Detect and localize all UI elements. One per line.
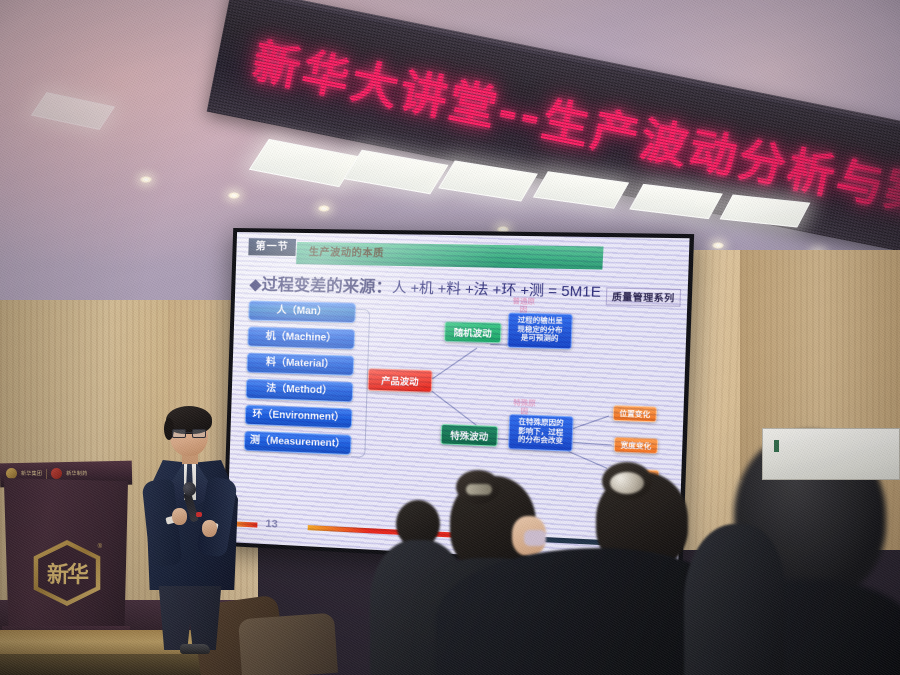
- slide-series-badge: 质量管理系列: [606, 287, 681, 306]
- connector-root-to-special: [431, 391, 476, 426]
- ceiling-downlight: [712, 242, 724, 249]
- slide-heading-text: 过程变差的来源：: [261, 277, 392, 297]
- podium-logo-character: 新华: [30, 540, 104, 606]
- podium-hexagon-logo: 新华 ®: [30, 540, 104, 606]
- effect-box-width-change: 宽度变化: [614, 437, 658, 454]
- factor-box-man: 人（Man）: [248, 300, 356, 323]
- factor-box-measurement: 测（Measurement）: [244, 431, 352, 455]
- brand-divider: [46, 469, 47, 479]
- pearl-hair-ornament-icon: [610, 472, 644, 494]
- speaker-trousers: [156, 586, 224, 650]
- xinhua-group-logo-icon: [6, 468, 17, 479]
- ceiling-downlight: [228, 192, 240, 199]
- process-box-special-variation: 特殊波动: [440, 424, 498, 447]
- face-mask-icon: [524, 530, 546, 546]
- speaker: [128, 404, 250, 649]
- whiteboard-marker-icon: [774, 440, 779, 452]
- slide-page-number: 13: [265, 518, 278, 531]
- chair-back: [238, 613, 338, 675]
- speaker-hand-right: [202, 520, 217, 537]
- slide-header: 第一节 生产波动的本质: [236, 238, 689, 272]
- effect-box-position-change: 位置变化: [613, 405, 657, 422]
- explain-box-stable-distribution: 过程的输出呈 现稳定的分布 是可预测的: [507, 312, 573, 349]
- process-box-random-variation: 随机波动: [444, 321, 502, 343]
- ceiling-downlight: [318, 205, 330, 212]
- process-box-product-variation: 产品波动: [367, 368, 432, 393]
- glasses-lens-left: [172, 429, 186, 438]
- explain-line: 的分布会改变: [518, 436, 563, 447]
- podium-brand-primary: 新华集团: [21, 470, 42, 477]
- slide-heading: ◆过程变差的来源：人 +机 +料 +法 +环 +测 = 5M1E: [249, 270, 601, 302]
- xinhua-pharma-logo-icon: [51, 468, 62, 479]
- slide-section-tag: 第一节: [248, 238, 296, 256]
- audience-member: [684, 524, 774, 675]
- audience-torso: [684, 524, 784, 675]
- registered-mark-icon: ®: [98, 544, 102, 550]
- glasses-lens-right: [192, 429, 206, 438]
- factor-box-machine: 机（Machine）: [247, 326, 355, 349]
- lecture-hall-photo: 新华大讲堂--生产波动分析与案 第一节 生产波动的本质 质量管理系列 ◆过程: [0, 0, 900, 675]
- slide-heading-bullet: ◆: [249, 276, 262, 293]
- slide-heading-equation: 人 +机 +料 +法 +环 +测 = 5M1E: [392, 279, 602, 300]
- speaker-glasses-icon: [172, 429, 206, 438]
- led-banner-fade: [834, 113, 900, 262]
- speaker-shoe: [180, 644, 210, 654]
- explain-line: 是可预测的: [521, 335, 559, 345]
- hair-clip-icon: [466, 484, 492, 495]
- speaker-hand-left: [172, 508, 187, 525]
- slide-section-title: 生产波动的本质: [309, 243, 385, 259]
- ceiling-downlight: [140, 176, 152, 183]
- podium-brand-secondary: 新华制药: [66, 470, 87, 477]
- connector-root-to-random: [432, 348, 477, 380]
- explain-box-distribution-changes: 在特殊原因的 影响下，过程 的分布会改变: [508, 414, 574, 452]
- factor-box-material: 料（Material）: [246, 353, 354, 376]
- factor-box-method: 法（Method）: [246, 379, 354, 403]
- factor-box-environment: 环（Environment）: [245, 405, 353, 429]
- microphone-indicator: [196, 512, 202, 517]
- whiteboard: [762, 428, 900, 480]
